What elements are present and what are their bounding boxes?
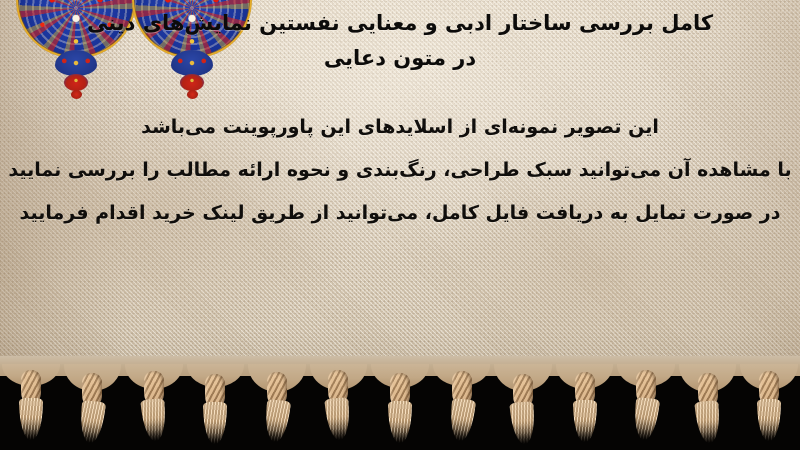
tassel-fluff-icon: [632, 397, 660, 441]
tassel-fluff-icon: [263, 399, 291, 443]
tassel-fluff-icon: [140, 398, 168, 442]
tassel-fluff-icon: [78, 400, 106, 444]
slide-body-line-2: با مشاهده آن می‌توانید سبک طراحی، رنگ‌بن…: [0, 149, 800, 192]
medallion-pendant-small-icon: [187, 90, 198, 99]
tassel-fluff-icon: [325, 397, 353, 441]
slide-body-line-3: در صورت تمایل به دریافت فایل کامل، می‌تو…: [0, 192, 800, 235]
tassel-fluff-icon: [388, 401, 412, 443]
tassel-fluff-icon: [757, 399, 781, 441]
carpet-fringe-tassels: [0, 356, 800, 450]
tassel-fluff-icon: [694, 400, 722, 444]
slide-title-line-1: کامل بررسی ساختار ادبی و معنایی نفستین ن…: [0, 6, 800, 41]
slide-title-line-2: در متون دعایی: [0, 41, 800, 76]
tassel-fluff-icon: [447, 398, 475, 442]
tassel-fluff-icon: [573, 400, 597, 442]
tassel-fluff-icon: [203, 402, 227, 444]
slide-title: کامل بررسی ساختار ادبی و معنایی نفستین ن…: [0, 6, 800, 76]
medallion-pendant-medium-icon: [180, 74, 204, 91]
slide-body-line-1: این تصویر نمونه‌ای از اسلایدهای این پاور…: [0, 106, 800, 149]
medallion-pendant-medium-icon: [64, 74, 88, 91]
tassel-fluff-icon: [19, 398, 43, 440]
presentation-slide: کامل بررسی ساختار ادبی و معنایی نفستین ن…: [0, 0, 800, 450]
slide-body-text: این تصویر نمونه‌ای از اسلایدهای این پاور…: [0, 106, 800, 235]
medallion-pendant-small-icon: [71, 90, 82, 99]
tassel-fluff-icon: [509, 401, 537, 445]
